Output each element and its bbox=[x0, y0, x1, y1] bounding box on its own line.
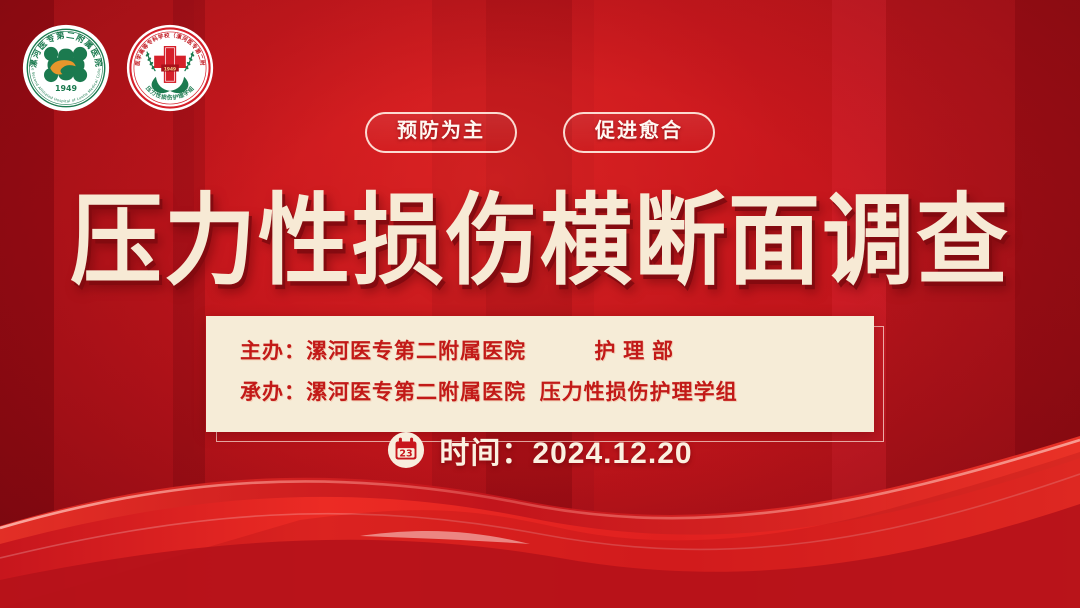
organizer-info-section: 主办：漯河医专第二附属医院 护 理 部 承办：漯河医专第二附属医院 压力性损伤护… bbox=[0, 316, 1080, 432]
slogan-badge-group: 预防为主 促进愈合 bbox=[0, 112, 1080, 153]
date-row: 23 时间：2024.12.20 bbox=[0, 428, 1080, 472]
poster-title: 压力性损伤横断面调查 bbox=[0, 161, 1080, 305]
poster-root: 漯河医专第二附属医院 The Second Affiliated Hospita… bbox=[0, 0, 1080, 608]
logo-nursing-society-emblem: 漯河医学高等专科学校（漯河医专第二附属） 压力性损伤护理学组 bbox=[126, 24, 214, 112]
co-organizer-line: 承办：漯河医专第二附属医院 压力性损伤护理学组 bbox=[240, 373, 840, 414]
logo-luohe-second-affiliated-hospital: 漯河医专第二附属医院 The Second Affiliated Hospita… bbox=[22, 24, 110, 112]
logo-group: 漯河医专第二附属医院 The Second Affiliated Hospita… bbox=[22, 24, 214, 112]
organizer-line: 主办：漯河医专第二附属医院 护 理 部 bbox=[240, 332, 840, 373]
calendar-day-number: 23 bbox=[400, 449, 413, 460]
slogan-badge-prevention[interactable]: 预防为主 bbox=[365, 112, 517, 153]
svg-text:1949: 1949 bbox=[164, 66, 176, 72]
svg-text:1949: 1949 bbox=[55, 84, 77, 93]
info-box-panel: 主办：漯河医专第二附属医院 护 理 部 承办：漯河医专第二附属医院 压力性损伤护… bbox=[206, 316, 874, 432]
date-text: 时间：2024.12.20 bbox=[439, 428, 692, 472]
slogan-badge-healing[interactable]: 促进愈合 bbox=[563, 112, 715, 153]
calendar-icon: 23 bbox=[387, 431, 425, 469]
organizer-info-box: 主办：漯河医专第二附属医院 护 理 部 承办：漯河医专第二附属医院 压力性损伤护… bbox=[206, 316, 874, 432]
